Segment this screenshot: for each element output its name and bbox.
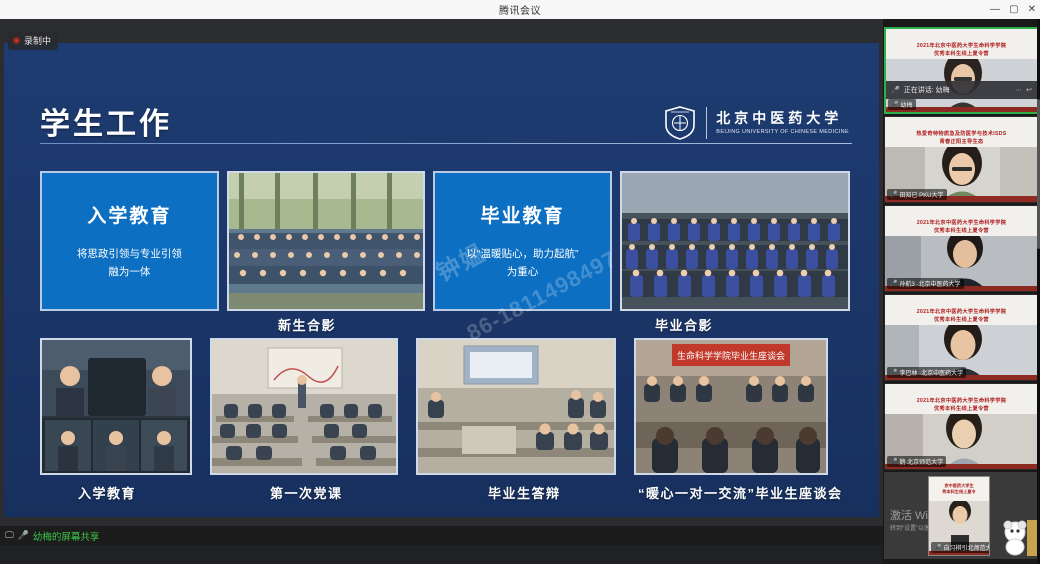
speaking-label: 正在讲话: 幼梅 <box>904 85 950 95</box>
photo-freshmen-group <box>227 171 425 311</box>
content-row-1: 入学教育 将思政引领与专业引领 融为一体 <box>40 171 850 311</box>
photo-enrollment-education <box>40 338 192 475</box>
card-subtitle: 以“温暖贴心，助力起航” 为重心 <box>467 246 579 281</box>
recording-badge: 录制中 <box>8 31 58 50</box>
maximize-icon[interactable]: ▢ <box>1009 5 1018 15</box>
card-subtitle-line2: 融为一体 <box>77 264 182 281</box>
card-subtitle-line1: 将思政引领与专业引领 <box>77 246 182 263</box>
banner-line-2: 优秀本科生线上夏令营 <box>934 405 989 412</box>
picture-in-picture-video[interactable]: 京中医药大学生 秀本科生线上夏令 🎤 自习棋引北师范大人学 <box>928 476 990 556</box>
pip-participant-name: 自习棋引北师范大人学 <box>943 543 990 552</box>
banner-line-1: 2021年北京中医药大学生命科学学院 <box>917 219 1007 226</box>
row2-captions: 入学教育 第一次党课 毕业生答辩 “暖心一对一交流”毕业生座谈会 <box>40 483 852 503</box>
presentation-slide: 学生工作 北京中医药大学 BEIJING UNIVERSITY OF CHINE… <box>4 43 879 517</box>
participant-name: 幼梅 <box>900 100 912 109</box>
mic-muted-icon: 🎤 <box>890 191 897 198</box>
participant-name-badge: 🎤 幼梅 <box>888 99 916 110</box>
recording-label: 录制中 <box>24 34 51 47</box>
card-enrollment-education: 入学教育 将思政引领与专业引领 融为一体 <box>40 171 219 311</box>
content-row-2: 生命科学学院毕业生座谈会 <box>40 338 852 475</box>
mic-muted-icon: 🎤 <box>890 280 897 287</box>
tencent-meeting-window: 腾讯会议 — ▢ ✕ 录制中 学生工作 <box>0 0 1040 564</box>
window-controls: — ▢ ✕ <box>990 0 1036 19</box>
participant-name: 鹅 北京师范大学 <box>899 457 943 466</box>
participant-name: 田知已 PKU大学 <box>899 190 943 199</box>
screen-share-icon: 🖵 <box>5 530 14 541</box>
caption-enrollment-education: 入学教育 <box>78 483 136 502</box>
panda-mascot-icon <box>1003 520 1037 556</box>
participant-tile-4[interactable]: 2021年北京中医药大学生命科学学院 优秀本科生线上夏令营 🎤 李巴林 ·北京中… <box>884 294 1039 381</box>
card-subtitle-line1: 以“温暖贴心，助力起航” <box>467 246 579 263</box>
participant-tile-6[interactable]: 激活 Windows 转到“设置”以激活 Windows。 京中医药大学生 秀本… <box>884 472 1039 559</box>
participant-tile-2[interactable]: 热爱奇特物质急及防医学与技术ISDS 青春正阳主导生态 🎤 田知已 PKU大学 <box>884 116 1039 203</box>
photo-graduation-group <box>620 171 850 311</box>
university-shield-icon <box>663 105 697 141</box>
participant-name-badge: 🎤 鹅 北京师范大学 <box>887 456 946 467</box>
participant-tile-3[interactable]: 2021年北京中医药大学生命科学学院 优秀本科生线上夏令营 🎤 孙航3 ·北京中… <box>884 205 1039 292</box>
close-icon[interactable]: ✕ <box>1028 5 1036 15</box>
banner-line-1: 热爱奇特物质急及防医学与技术ISDS <box>916 130 1006 137</box>
mic-active-icon: 🎤 <box>891 86 900 94</box>
mic-muted-icon: 🎤 <box>890 458 897 465</box>
banner-line-1: 2021年北京中医药大学生命科学学院 <box>917 397 1007 404</box>
window-titlebar: 腾讯会议 — ▢ ✕ <box>0 0 1040 19</box>
share-status-label: 幼梅的屏幕共享 <box>33 529 100 543</box>
banner-line-2: 青春正阳主导生态 <box>940 138 984 145</box>
pip-banner-line-2: 秀本科生线上夏令 <box>942 489 976 495</box>
row1-captions: 新生合影 毕业合影 <box>40 315 850 335</box>
caption-graduate-symposium: “暖心一对一交流”毕业生座谈会 <box>638 483 843 502</box>
participant-name: 孙航3 ·北京中医药大学 <box>899 279 960 288</box>
pip-banner: 京中医药大学生 秀本科生线上夏令 <box>929 477 989 501</box>
photo-graduate-defense <box>416 338 616 475</box>
photo-graduate-symposium: 生命科学学院毕业生座谈会 <box>634 338 828 475</box>
participant-tile-1[interactable]: 2021年北京中医药大学生命科学学院 优秀本科生线上夏令营 🎤 正在讲话: 幼梅… <box>884 27 1039 114</box>
participant-name-badge: 🎤 李巴林 ·北京中医药大学 <box>887 367 966 378</box>
participant-name-badge: 🎤 孙航3 ·北京中医药大学 <box>887 278 964 289</box>
logo-english-name: BEIJING UNIVERSITY OF CHINESE MEDICINE <box>716 129 849 135</box>
participant-name-badge: 🎤 田知已 PKU大学 <box>887 189 947 200</box>
participant-name: 李巴林 ·北京中医药大学 <box>899 368 963 377</box>
card-subtitle: 将思政引领与专业引领 融为一体 <box>77 246 182 281</box>
banner-line-2: 优秀本科生线上夏令营 <box>934 227 989 234</box>
svg-text:生命科学学院毕业生座谈会: 生命科学学院毕业生座谈会 <box>677 350 785 362</box>
card-subtitle-line2: 为重心 <box>467 264 579 281</box>
shared-screen-stage: 录制中 学生工作 北京中医药大学 BEIJING UNIVERSITY O <box>0 19 883 545</box>
photo-first-party-lesson <box>210 338 398 475</box>
logo-text: 北京中医药大学 BEIJING UNIVERSITY OF CHINESE ME… <box>716 110 849 135</box>
mic-muted-icon: 🎤 <box>890 369 897 376</box>
speaking-indicator: 🎤 正在讲话: 幼梅 ⋯ ↩ <box>886 81 1037 99</box>
caption-graduation-photo: 毕业合影 <box>655 315 713 334</box>
title-divider <box>40 143 852 144</box>
banner-line-1: 2021年北京中医药大学生命科学学院 <box>917 308 1007 315</box>
slide-title: 学生工作 <box>40 99 172 143</box>
card-title: 入学教育 <box>87 201 171 228</box>
caption-graduate-defense: 毕业生答辩 <box>488 483 561 502</box>
record-dot-icon <box>13 37 20 44</box>
microphone-icon: 🎤 <box>18 530 29 541</box>
caption-freshmen-photo: 新生合影 <box>278 315 336 334</box>
more-options-icon[interactable]: ⋯ <box>1015 86 1022 94</box>
share-statusbar: 🖵 🎤 幼梅的屏幕共享 <box>0 526 883 545</box>
logo-divider <box>706 107 707 139</box>
university-logo-block: 北京中医药大学 BEIJING UNIVERSITY OF CHINESE ME… <box>663 105 849 141</box>
mic-muted-icon: 🎤 <box>891 101 898 108</box>
banner-line-2: 优秀本科生线上夏令营 <box>934 50 989 57</box>
window-title: 腾讯会议 <box>499 2 541 17</box>
caption-first-party-lesson: 第一次党课 <box>270 483 343 502</box>
card-graduation-education: 毕业教育 以“温暖贴心，助力起航” 为重心 <box>433 171 612 311</box>
participant-rail[interactable]: 2021年北京中医药大学生命科学学院 优秀本科生线上夏令营 🎤 正在讲话: 幼梅… <box>883 19 1040 564</box>
banner-line-2: 优秀本科生线上夏令营 <box>934 316 989 323</box>
mic-muted-icon: 🎤 <box>934 544 941 551</box>
pip-name-badge: 🎤 自习棋引北师范大人学 <box>931 542 990 553</box>
collapse-icon[interactable]: ↩ <box>1026 86 1032 94</box>
card-title: 毕业教育 <box>481 201 565 228</box>
logo-chinese-name: 北京中医药大学 <box>716 110 849 126</box>
minimize-icon[interactable]: — <box>990 5 1000 15</box>
participant-tile-5[interactable]: 2021年北京中医药大学生命科学学院 优秀本科生线上夏令营 🎤 鹅 北京师范大学 <box>884 383 1039 470</box>
banner-line-1: 2021年北京中医药大学生命科学学院 <box>917 42 1007 49</box>
